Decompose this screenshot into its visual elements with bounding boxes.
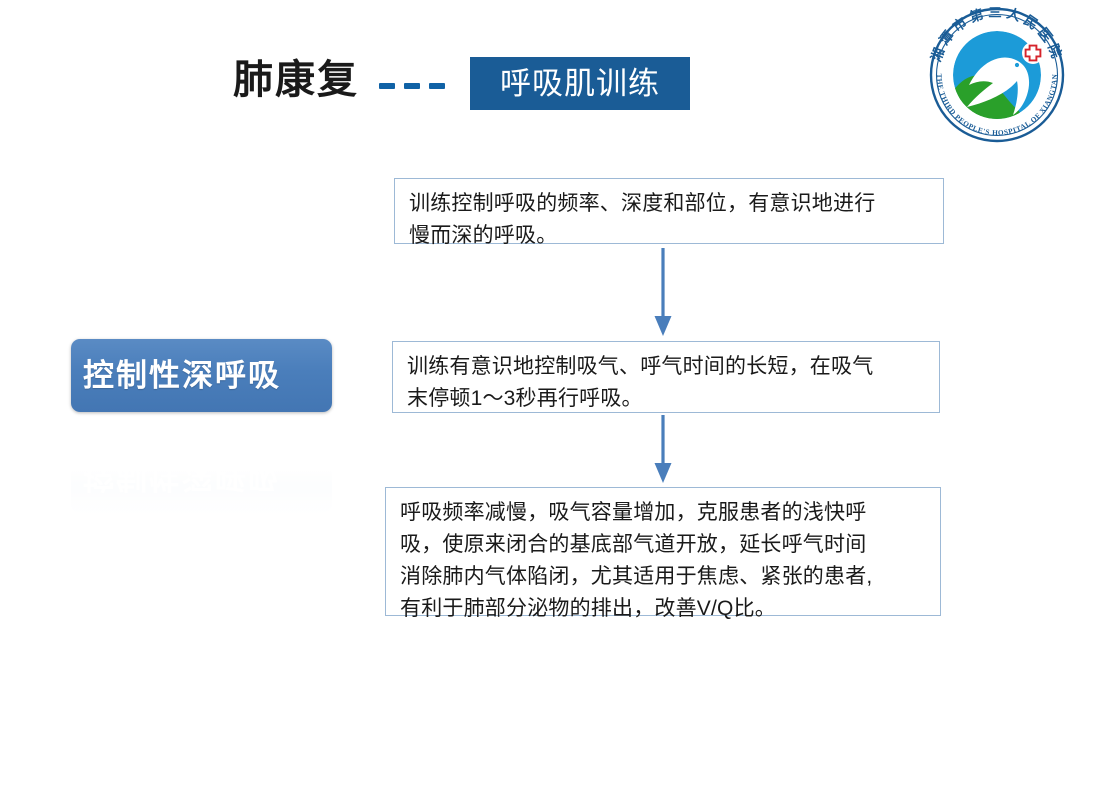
category-label-reflection: 控制性深呼吸 (71, 440, 332, 513)
dash-segment-3 (429, 83, 445, 89)
flow-arrow-1 (650, 248, 676, 338)
category-label-reflection-text: 控制性深呼吸 (83, 459, 281, 495)
flow-step-box-2-line-1: 训练有意识地控制吸气、呼气时间的长短，在吸气 (407, 351, 927, 383)
arrow-head (655, 316, 672, 336)
title-badge: 呼吸肌训练 (470, 57, 690, 110)
flow-step-box-3: 呼吸频率减慢，吸气容量增加，克服患者的浅快呼 吸，使原来闭合的基底部气道开放，延… (385, 487, 941, 616)
dash-segment-2 (404, 83, 420, 89)
flow-step-box-2: 训练有意识地控制吸气、呼气时间的长短，在吸气 末停顿1～3秒再行呼吸。 (392, 341, 940, 413)
dashed-separator (379, 80, 445, 92)
hospital-logo: 湘潭市第三人民医院 THE THIRD PEOPLE'S HOSPITAL OF… (911, 7, 1083, 143)
arrow-head (655, 463, 672, 483)
category-label-box: 控制性深呼吸 (71, 339, 332, 412)
dash-segment-1 (379, 83, 395, 89)
flow-step-box-1-line-1: 训练控制呼吸的频率、深度和部位，有意识地进行 (409, 188, 931, 220)
flow-step-box-3-line-2: 吸，使原来闭合的基底部气道开放，延长呼气时间 (400, 529, 928, 561)
slide-header: 肺康复 呼吸肌训练 (0, 0, 1096, 150)
red-cross-icon (1022, 42, 1044, 64)
flow-step-box-3-line-3: 消除肺内气体陷闭，尤其适用于焦虑、紧张的患者, (400, 561, 928, 593)
title-badge-label: 呼吸肌训练 (500, 67, 660, 101)
flow-step-box-1: 训练控制呼吸的频率、深度和部位，有意识地进行 慢而深的呼吸。 (394, 178, 944, 244)
flow-step-box-2-line-2: 末停顿1～3秒再行呼吸。 (407, 383, 927, 415)
category-label-text: 控制性深呼吸 (83, 358, 281, 394)
flow-arrow-2 (650, 415, 676, 485)
page-title: 肺康复 (233, 54, 359, 106)
flow-step-box-3-line-1: 呼吸频率减慢，吸气容量增加，克服患者的浅快呼 (400, 497, 928, 529)
flow-step-box-3-line-4: 有利于肺部分泌物的排出，改善V/Q比。 (400, 593, 928, 625)
